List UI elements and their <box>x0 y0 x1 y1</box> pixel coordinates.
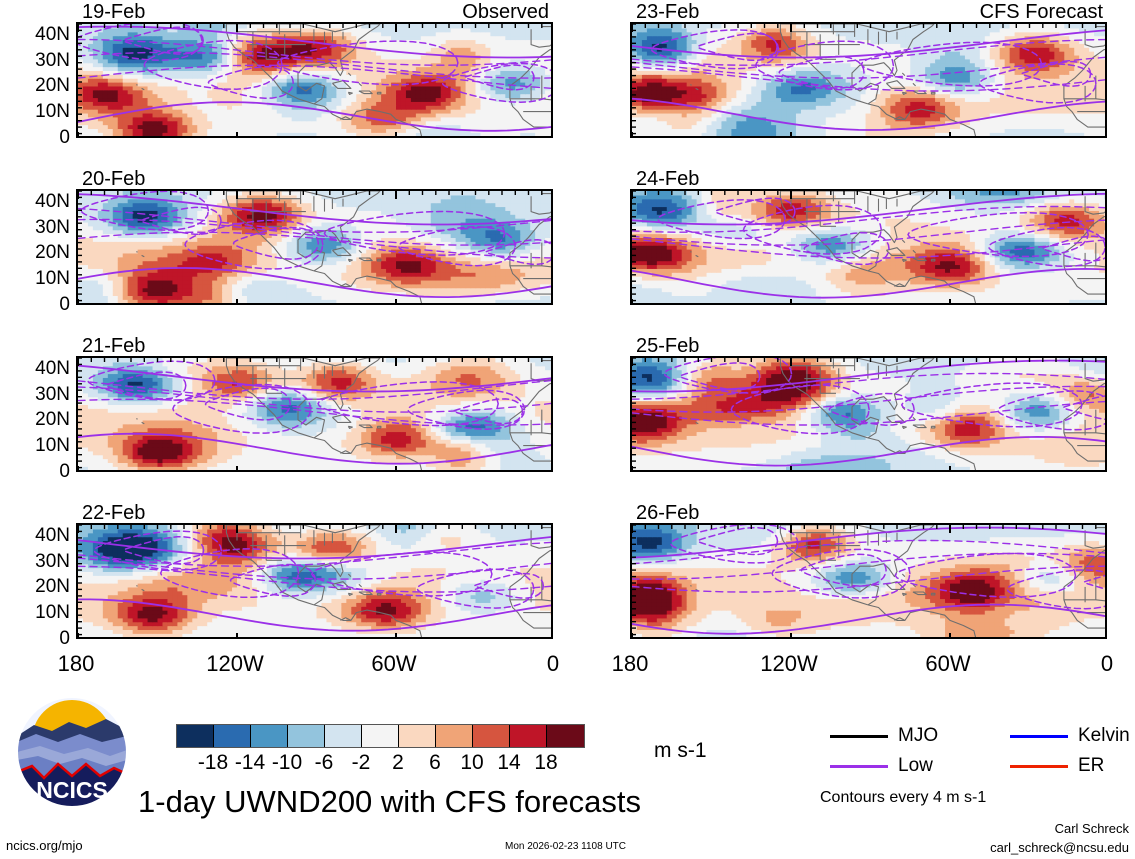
colorbar-swatch <box>214 725 251 747</box>
colorbar-swatch <box>436 725 473 747</box>
colorbar-swatch <box>288 725 325 747</box>
panel-date-label: 20-Feb <box>82 169 145 189</box>
map-canvas <box>76 189 553 305</box>
panel-23-feb: 23-FebCFS Forecast <box>630 22 1107 138</box>
y-axis-label: 20N <box>0 76 70 95</box>
map-canvas <box>76 22 553 138</box>
author-name: Carl Schreck <box>1055 822 1129 835</box>
panel-19-feb: 19-FebObserved <box>76 22 553 138</box>
colorbar-unit-label: m s-1 <box>654 740 707 761</box>
panel-21-feb: 21-Feb <box>76 356 553 472</box>
panel-26-feb: 26-Feb <box>630 523 1107 639</box>
map-canvas <box>630 523 1107 639</box>
x-axis-label: 180 <box>585 653 675 675</box>
colorbar-swatch <box>177 725 214 747</box>
y-axis-label: 20N <box>0 577 70 596</box>
site-link[interactable]: ncics.org/mjo <box>6 839 83 852</box>
generated-timestamp: Mon 2026-02-23 1108 UTC <box>505 842 626 852</box>
y-axis-label: 30N <box>0 218 70 237</box>
legend-label: Kelvin x2 <box>1078 726 1135 745</box>
colorbar-tick-label: 18 <box>518 752 574 773</box>
y-axis-label: 20N <box>0 243 70 262</box>
y-axis-label: 30N <box>0 385 70 404</box>
panel-22-feb: 22-Feb <box>76 523 553 639</box>
map-canvas <box>630 189 1107 305</box>
x-axis-label: 120W <box>744 653 834 675</box>
legend-swatch-mjo <box>830 735 888 738</box>
legend-label: Low <box>898 756 933 775</box>
y-axis-label: 20N <box>0 410 70 429</box>
y-axis-label: 40N <box>0 25 70 44</box>
y-axis-label: 40N <box>0 526 70 545</box>
colorbar-swatch <box>473 725 510 747</box>
colorbar <box>176 724 585 748</box>
ncics-logo: NCICS <box>14 694 130 810</box>
x-axis-label: 0 <box>1062 653 1135 675</box>
map-canvas <box>630 356 1107 472</box>
column-heading-observed: Observed <box>462 2 549 22</box>
panel-date-label: 25-Feb <box>636 336 699 356</box>
legend-swatch-low <box>830 765 888 768</box>
y-axis-label: 10N <box>0 102 70 121</box>
y-axis-label: 0 <box>0 295 70 314</box>
y-axis-label: 0 <box>0 128 70 147</box>
panel-date-label: 22-Feb <box>82 503 145 523</box>
x-axis-label: 60W <box>903 653 993 675</box>
legend-swatch-kelvin-x2 <box>1010 735 1068 738</box>
y-axis-label: 40N <box>0 192 70 211</box>
colorbar-swatch <box>510 725 547 747</box>
panel-date-label: 19-Feb <box>82 2 145 22</box>
y-axis-label: 0 <box>0 629 70 648</box>
author-email[interactable]: carl_schreck@ncsu.edu <box>990 841 1129 854</box>
panel-24-feb: 24-Feb <box>630 189 1107 305</box>
panel-date-label: 24-Feb <box>636 169 699 189</box>
ncics-logo-graphic: NCICS <box>14 694 130 810</box>
colorbar-swatch <box>251 725 288 747</box>
y-axis-label: 0 <box>0 462 70 481</box>
panel-date-label: 21-Feb <box>82 336 145 356</box>
legend-label: ER <box>1078 756 1104 775</box>
y-axis-label: 10N <box>0 436 70 455</box>
panel-date-label: 26-Feb <box>636 503 699 523</box>
y-axis-label: 40N <box>0 359 70 378</box>
y-axis-label: 30N <box>0 51 70 70</box>
colorbar-swatch <box>325 725 362 747</box>
map-canvas <box>76 523 553 639</box>
column-heading-forecast: CFS Forecast <box>980 2 1103 22</box>
y-axis-label: 30N <box>0 552 70 571</box>
x-axis-label: 120W <box>190 653 280 675</box>
map-canvas <box>76 356 553 472</box>
y-axis-label: 10N <box>0 269 70 288</box>
colorbar-swatch <box>362 725 399 747</box>
legend-label: MJO <box>898 726 938 745</box>
legend-swatch-er <box>1010 765 1068 768</box>
map-canvas <box>630 22 1107 138</box>
panel-date-label: 23-Feb <box>636 2 699 22</box>
y-axis-label: 10N <box>0 603 70 622</box>
x-axis-label: 180 <box>31 653 121 675</box>
logo-text: NCICS <box>36 777 108 803</box>
contour-interval-note: Contours every 4 m s-1 <box>820 790 986 806</box>
colorbar-swatch <box>399 725 436 747</box>
panel-20-feb: 20-Feb <box>76 189 553 305</box>
colorbar-swatch <box>547 725 584 747</box>
x-axis-label: 60W <box>349 653 439 675</box>
page-title: 1-day UWND200 with CFS forecasts <box>138 786 641 817</box>
panel-25-feb: 25-Feb <box>630 356 1107 472</box>
